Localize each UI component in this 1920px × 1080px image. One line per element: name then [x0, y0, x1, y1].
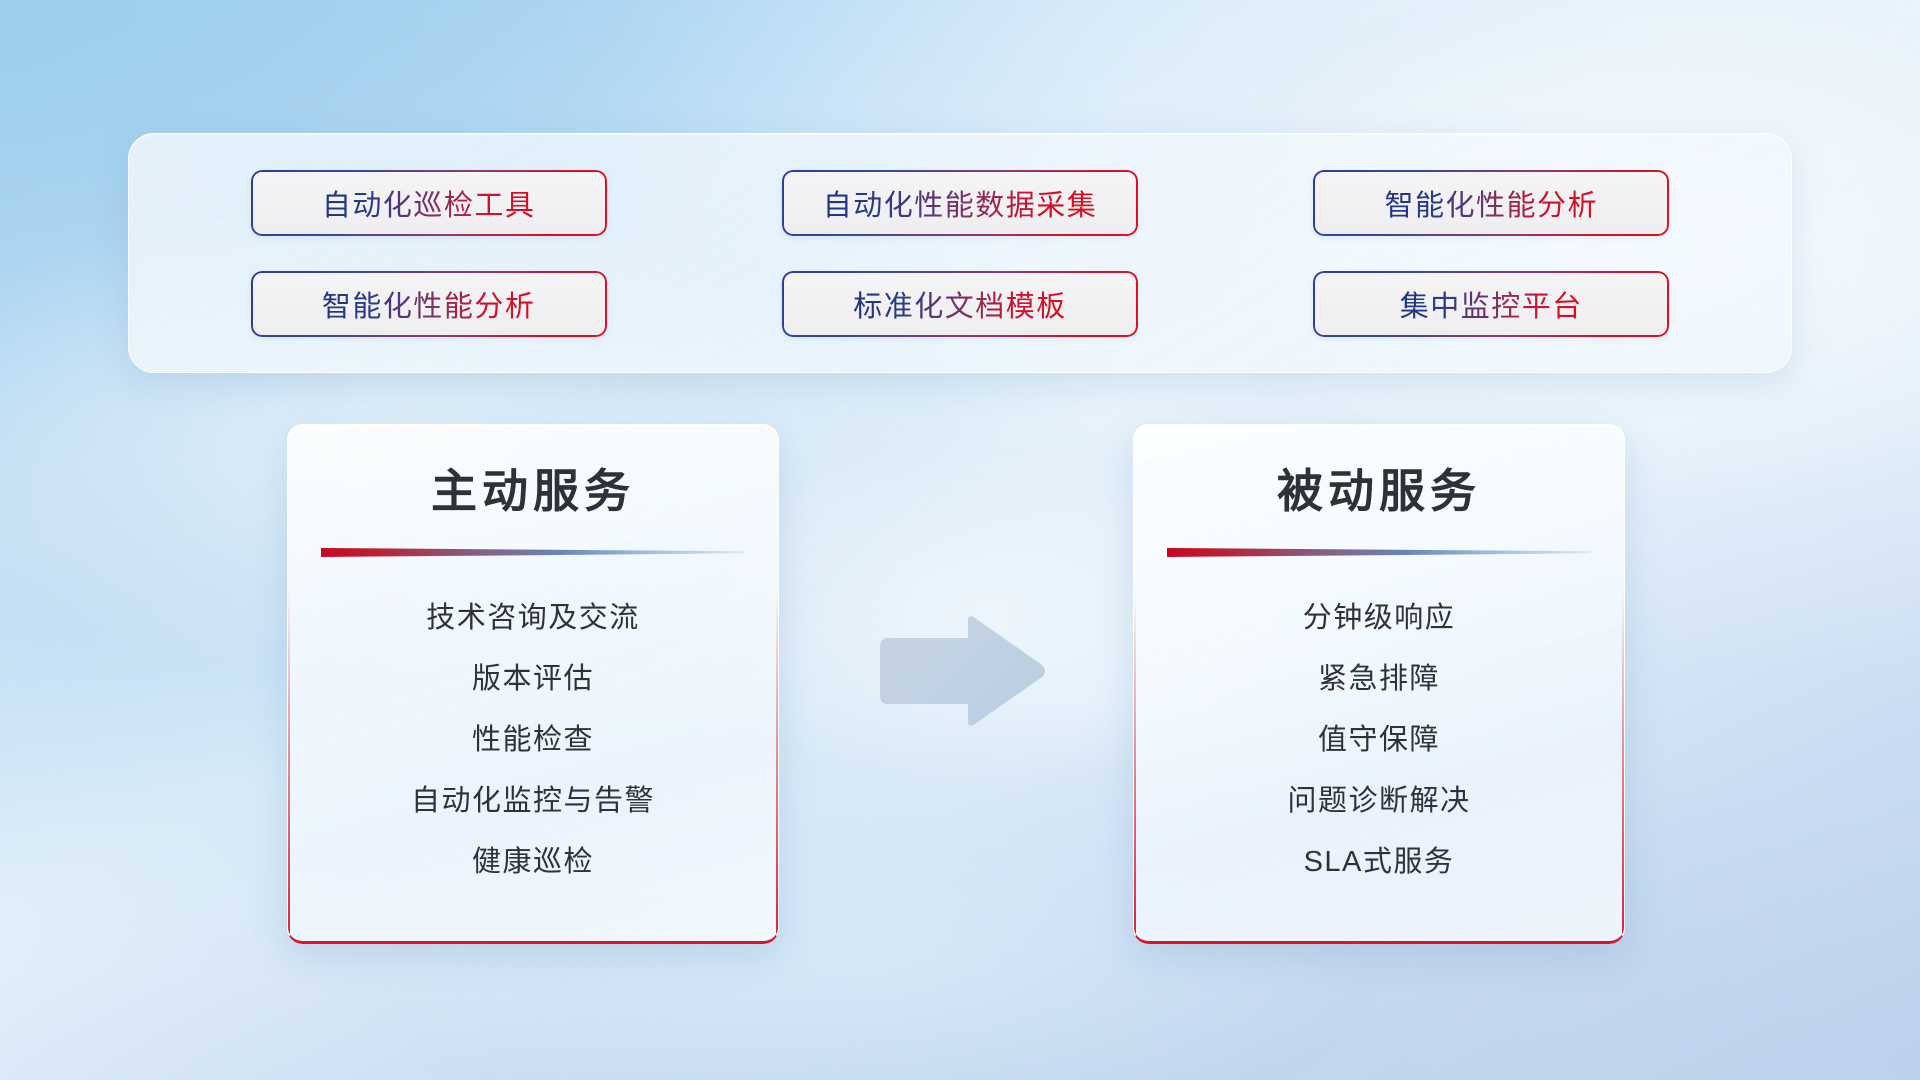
list-item: 问题诊断解决 [1134, 771, 1624, 832]
capability-pill-label: 自动化性能数据采集 [823, 182, 1098, 224]
card-reactive-service: 被动服务 分钟级响应 紧急排障 值守保障 [1133, 424, 1625, 944]
list-item: 紧急排障 [1134, 649, 1624, 710]
capability-pill-4[interactable]: 智能化性能分析 [251, 271, 607, 337]
capability-pill-5[interactable]: 标准化文档模板 [782, 271, 1138, 337]
list-item: 自动化监控与告警 [288, 771, 778, 832]
card-divider [1167, 547, 1591, 558]
capability-pill-6[interactable]: 集中监控平台 [1313, 271, 1669, 337]
capability-pill-3[interactable]: 智能化性能分析 [1313, 170, 1669, 236]
list-item: 技术咨询及交流 [288, 588, 778, 649]
capability-pill-label: 集中监控平台 [1400, 283, 1583, 325]
list-item: 健康巡检 [288, 832, 778, 893]
capability-pill-2[interactable]: 自动化性能数据采集 [782, 170, 1138, 236]
card-item-list: 分钟级响应 紧急排障 值守保障 问题诊断解决 SLA式服务 [1134, 588, 1624, 893]
list-item: SLA式服务 [1134, 832, 1624, 893]
capability-panel: 自动化巡检工具 自动化性能数据采集 智能化性能分析 智能化性能分析 标准化文档模… [128, 133, 1792, 373]
card-item-list: 技术咨询及交流 版本评估 性能检查 自动化监控与告警 健康巡检 [288, 588, 778, 893]
capability-pill-label: 自动化巡检工具 [322, 182, 536, 224]
capability-pill-label: 标准化文档模板 [853, 283, 1067, 325]
capability-pill-1[interactable]: 自动化巡检工具 [251, 170, 607, 236]
card-title: 被动服务 [1134, 455, 1624, 521]
capability-pill-label: 智能化性能分析 [322, 283, 536, 325]
list-item: 性能检查 [288, 710, 778, 771]
list-item: 版本评估 [288, 649, 778, 710]
list-item: 分钟级响应 [1134, 588, 1624, 649]
card-title: 主动服务 [288, 455, 778, 521]
diagram-stage: 自动化巡检工具 自动化性能数据采集 智能化性能分析 智能化性能分析 标准化文档模… [0, 0, 1920, 1080]
arrow-right-icon [872, 612, 1048, 730]
list-item: 值守保障 [1134, 710, 1624, 771]
card-divider [321, 547, 745, 558]
card-proactive-service: 主动服务 技术咨询及交流 版本评估 性能检查 [287, 424, 779, 944]
capability-pill-label: 智能化性能分析 [1385, 182, 1599, 224]
